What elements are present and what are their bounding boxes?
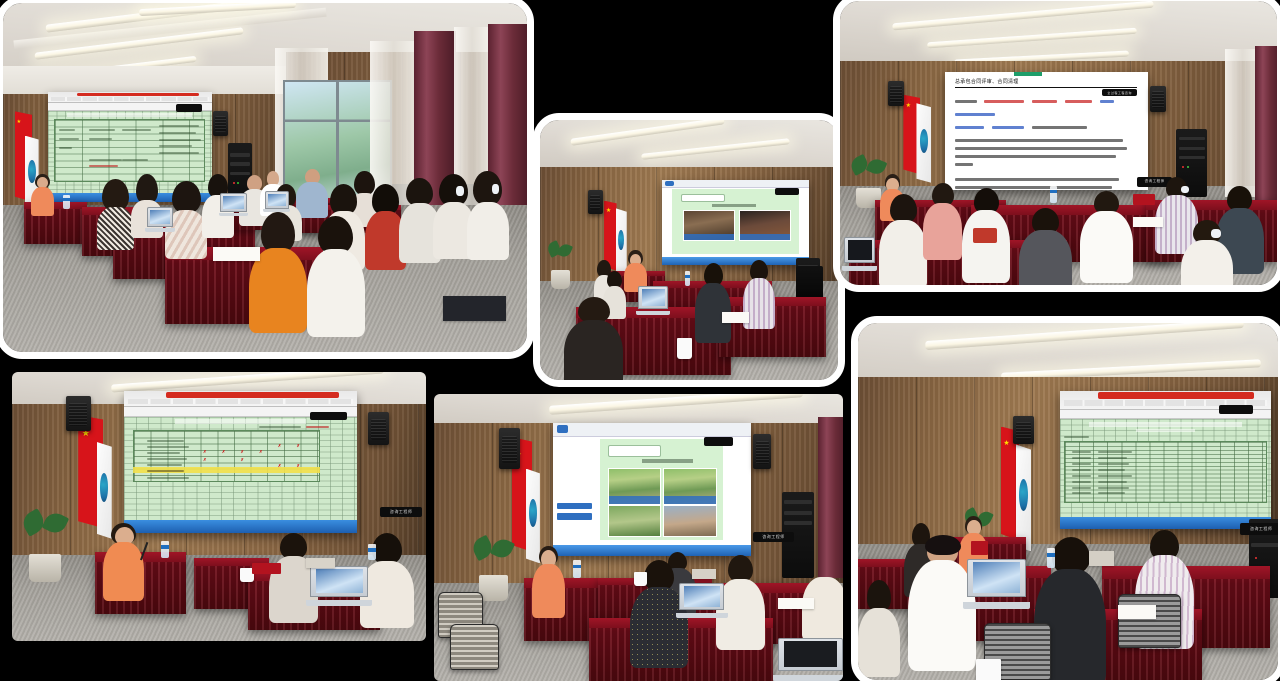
wall-speaker [1150, 86, 1166, 112]
panel-bottom-right[interactable]: ★ 咨询工程师 [851, 316, 1280, 681]
attendee [1019, 208, 1071, 285]
panel-bottom-center[interactable]: ★ 咨询工程师 [434, 394, 843, 681]
photo-collage: ★ [0, 0, 1280, 681]
face-mask [1181, 186, 1189, 193]
laptop[interactable] [220, 193, 246, 216]
cup [976, 659, 1001, 680]
face-mask [492, 184, 499, 194]
potted-plant [546, 242, 576, 289]
notebook [722, 312, 749, 322]
attendee [307, 216, 365, 335]
notebook [213, 247, 260, 261]
panel-bottom-left[interactable]: ✗✗ ✗✗ ✗✗ ✗✗ ✗✗ ★ 咨询工程师 [12, 372, 426, 641]
empty-chair [450, 624, 499, 670]
name-plate [1133, 194, 1155, 205]
water-bottle [573, 560, 581, 577]
attendee [97, 179, 134, 249]
panel-top-left[interactable]: ★ [0, 0, 534, 359]
site-photo [663, 468, 716, 505]
attendee [29, 174, 55, 216]
rack-label-sign: 咨询工程师 [1240, 523, 1278, 535]
site-photo [739, 210, 791, 241]
notebook [1133, 217, 1164, 227]
notebook [1118, 605, 1156, 619]
wall-speaker [66, 396, 91, 431]
site-photo [663, 505, 716, 536]
face-mask [456, 186, 464, 196]
laptop[interactable] [967, 559, 1026, 609]
wall-speaker [888, 81, 904, 107]
water-bottle [685, 271, 691, 287]
water-bottle [1050, 186, 1057, 203]
attendee [1080, 191, 1132, 279]
cup [634, 572, 646, 586]
screen-corner-label [1219, 405, 1253, 414]
tissue-box [692, 569, 717, 579]
panel-top-center[interactable]: ★ [533, 113, 845, 387]
cup [677, 338, 692, 359]
wall-speaker [368, 412, 389, 444]
company-flag [916, 103, 931, 183]
attendee [962, 188, 1010, 279]
wall-speaker [753, 434, 771, 468]
attendee [564, 297, 624, 380]
screen-corner-label: 全过程工程咨询 [1102, 89, 1137, 96]
tissue-box [306, 558, 335, 569]
potted-plant [20, 512, 70, 582]
attendee [467, 171, 509, 258]
name-plate [252, 563, 281, 574]
attendee [858, 580, 900, 673]
laptop[interactable] [778, 638, 843, 681]
presenter [623, 250, 647, 292]
laptop[interactable] [679, 583, 724, 617]
attendee [923, 183, 962, 257]
wall-speaker [213, 111, 229, 135]
rack-label-sign: 咨询工程师 [753, 532, 794, 542]
laptop[interactable] [147, 207, 173, 231]
attendee [695, 263, 731, 341]
wall-speaker [588, 190, 603, 213]
water-bottle [63, 195, 69, 209]
screen-corner-label [176, 104, 202, 112]
site-photo [608, 468, 661, 505]
chair [1118, 594, 1181, 648]
rack-label-sign: 咨询工程师 [380, 507, 421, 518]
screen-corner-label [704, 437, 733, 446]
presenter [103, 523, 144, 598]
screen-corner-label [775, 188, 799, 196]
wall-speaker [1013, 416, 1034, 445]
laptop[interactable] [638, 286, 668, 315]
notebook [443, 296, 506, 320]
name-plate [971, 541, 988, 555]
tissue-box [1089, 551, 1114, 565]
site-photo [608, 505, 661, 536]
attendee [1181, 220, 1233, 285]
face-mask [1211, 229, 1220, 238]
notebook [778, 598, 815, 609]
laptop[interactable] [265, 191, 289, 212]
laptop[interactable] [310, 566, 368, 606]
attendee [249, 212, 307, 331]
curtain [818, 417, 843, 578]
curtain [1255, 46, 1277, 199]
water-bottle [368, 544, 376, 560]
panel-top-right[interactable]: 总承包合同评审、合同清理 [833, 0, 1280, 292]
water-bottle [1047, 548, 1055, 568]
wall-speaker [499, 428, 519, 468]
site-photo [683, 210, 735, 241]
slide-title: 总承包合同评审、合同清理 [955, 78, 1137, 88]
water-bottle [161, 541, 169, 557]
presenter [532, 546, 565, 615]
company-flag [1016, 444, 1032, 551]
laptop[interactable] [844, 237, 875, 271]
screen-corner-label [310, 412, 347, 420]
attendee [879, 194, 927, 285]
